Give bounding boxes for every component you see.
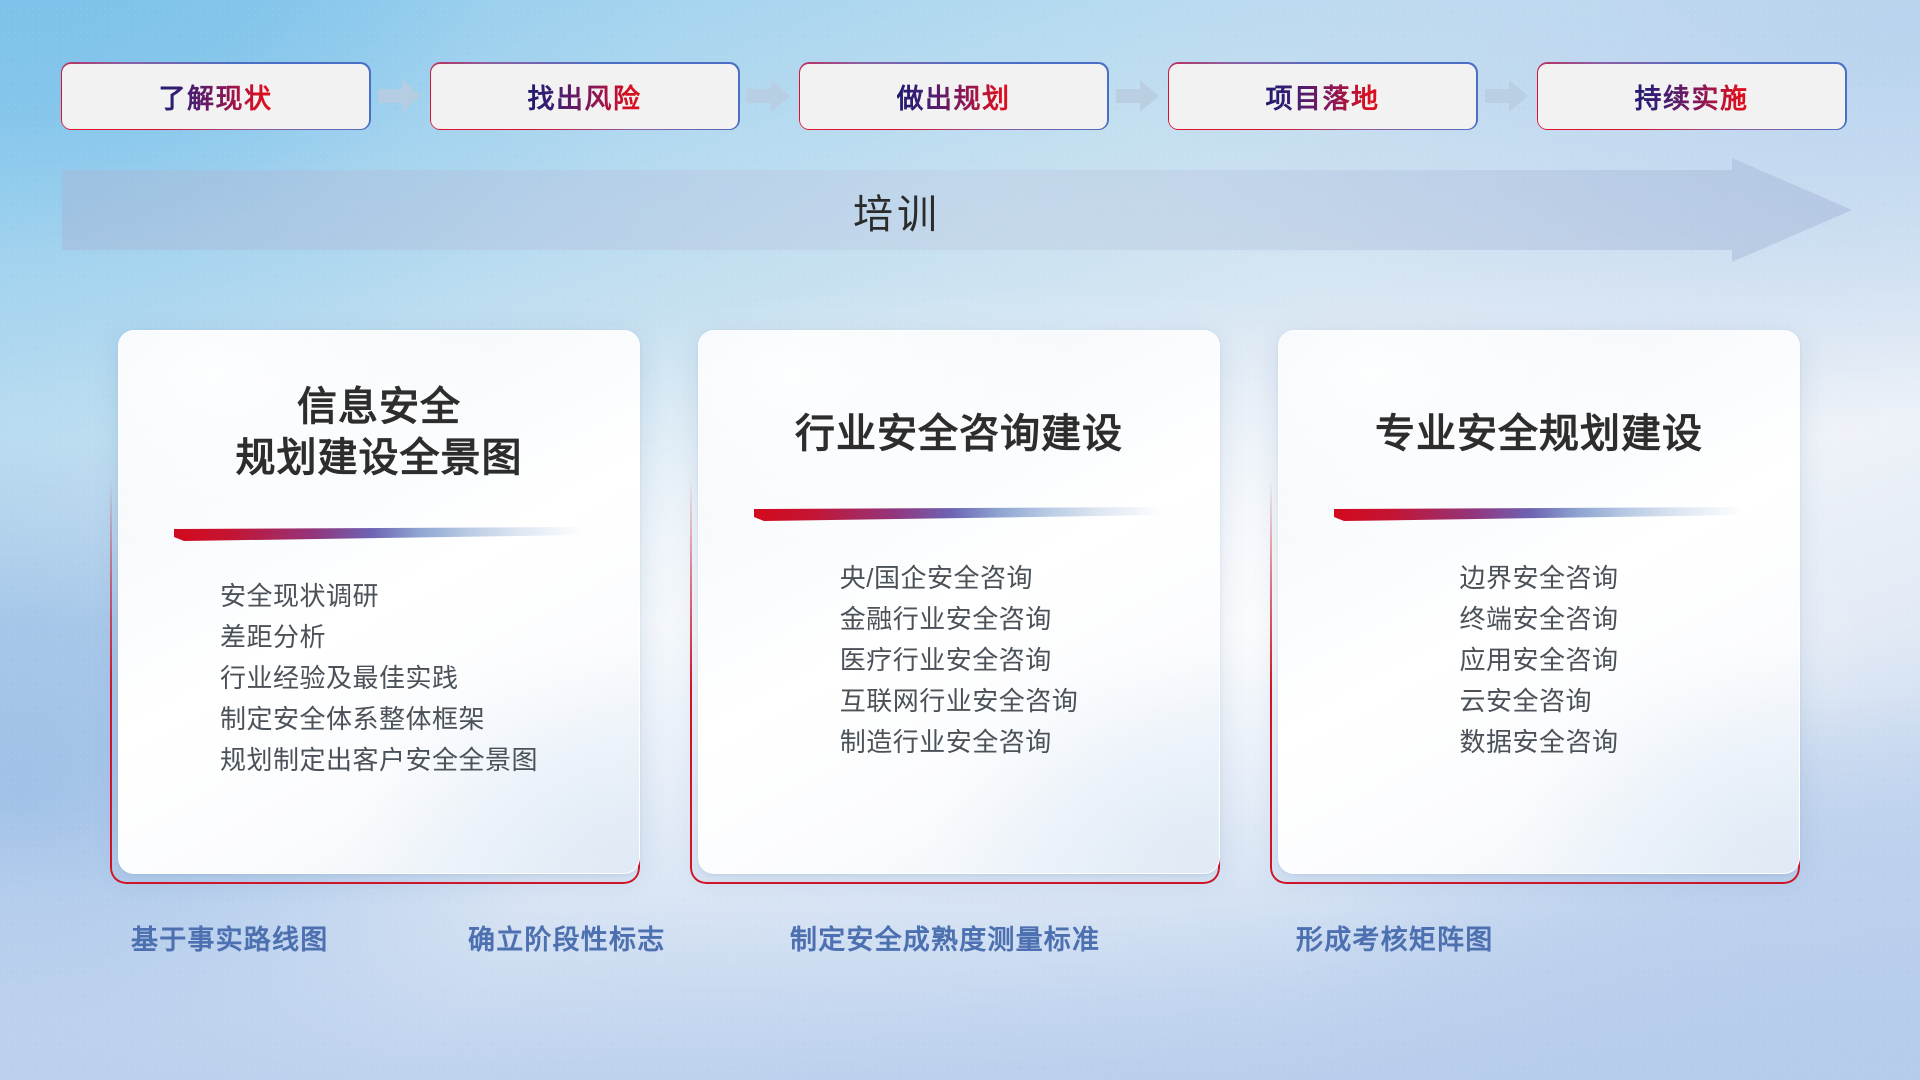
gradient-divider-icon bbox=[754, 507, 1164, 523]
step-pill-0[interactable]: 了解现状 bbox=[62, 64, 369, 129]
step-slot-3: 项目落地 bbox=[1169, 64, 1476, 129]
card-title-line: 信息安全 bbox=[236, 382, 523, 433]
list-item: 差距分析 bbox=[220, 624, 538, 650]
step-slot-1: 找出风险 bbox=[431, 64, 738, 129]
list-item: 制定安全体系整体框架 bbox=[220, 706, 538, 732]
list-item: 数据安全咨询 bbox=[1459, 729, 1618, 755]
card-body-1: 行业安全咨询建设 央/国企安全咨询 金融行业安全咨询 医疗行业安全咨询 互联网行… bbox=[698, 330, 1220, 874]
step-slot-2: 做出规划 bbox=[800, 64, 1107, 129]
list-item: 制造行业安全咨询 bbox=[840, 729, 1079, 755]
step-pill-label-2: 做出规划 bbox=[897, 77, 1011, 116]
list-item: 规划制定出客户安全全景图 bbox=[220, 747, 538, 773]
arrow-right-icon bbox=[1107, 79, 1169, 113]
process-steps: 了解现状 找出风险 做出规划 bbox=[0, 62, 1920, 130]
card-list-1: 央/国企安全咨询 金融行业安全咨询 医疗行业安全咨询 互联网行业安全咨询 制造行… bbox=[699, 565, 1219, 770]
arrow-right-icon bbox=[1476, 79, 1538, 113]
training-banner: 培训 bbox=[62, 158, 1852, 263]
step-slot-0: 了解现状 bbox=[62, 64, 369, 129]
step-pill-4[interactable]: 持续实施 bbox=[1538, 64, 1845, 129]
card-title-line: 规划建设全景图 bbox=[236, 433, 523, 484]
step-pill-label-0: 了解现状 bbox=[159, 77, 273, 116]
list-item: 医疗行业安全咨询 bbox=[840, 647, 1079, 673]
list-item: 安全现状调研 bbox=[220, 583, 538, 609]
caption-2: 制定安全成熟度测量标准 bbox=[790, 918, 1100, 957]
card-list-0: 安全现状调研 差距分析 行业经验及最佳实践 制定安全体系整体框架 规划制定出客户… bbox=[119, 583, 639, 788]
card-body-0: 信息安全 规划建设全景图 安全现状调研 差距分析 行业经验及最佳实践 制定安全体… bbox=[118, 330, 640, 874]
card-title-line: 行业安全咨询建设 bbox=[795, 409, 1123, 460]
caption-1: 确立阶段性标志 bbox=[468, 918, 665, 957]
step-pill-1[interactable]: 找出风险 bbox=[431, 64, 738, 129]
card-title-0: 信息安全 规划建设全景图 bbox=[119, 353, 639, 513]
gradient-divider-icon bbox=[1334, 507, 1744, 523]
list-item: 金融行业安全咨询 bbox=[840, 606, 1079, 632]
list-item: 边界安全咨询 bbox=[1459, 565, 1618, 591]
caption-0: 基于事实路线图 bbox=[131, 918, 328, 957]
arrow-right-icon bbox=[369, 79, 431, 113]
step-pill-label-4: 持续实施 bbox=[1635, 77, 1749, 116]
list-item: 行业经验及最佳实践 bbox=[220, 665, 538, 691]
card-body-2: 专业安全规划建设 边界安全咨询 终端安全咨询 应用安全咨询 云安全咨询 数据安全… bbox=[1278, 330, 1800, 874]
step-pill-label-1: 找出风险 bbox=[528, 77, 642, 116]
gradient-divider-icon bbox=[174, 527, 584, 543]
slide-canvas: 了解现状 找出风险 做出规划 bbox=[0, 0, 1920, 1080]
arrow-right-icon bbox=[738, 79, 800, 113]
caption-3: 形成考核矩阵图 bbox=[1296, 918, 1493, 957]
step-pill-3[interactable]: 项目落地 bbox=[1169, 64, 1476, 129]
card-title-1: 行业安全咨询建设 bbox=[699, 377, 1219, 493]
card-title-2: 专业安全规划建设 bbox=[1279, 377, 1799, 493]
list-item: 互联网行业安全咨询 bbox=[840, 688, 1079, 714]
step-pill-label-3: 项目落地 bbox=[1266, 77, 1380, 116]
step-pill-2[interactable]: 做出规划 bbox=[800, 64, 1107, 129]
list-item: 应用安全咨询 bbox=[1459, 647, 1618, 673]
step-slot-4: 持续实施 bbox=[1538, 64, 1845, 129]
list-item: 终端安全咨询 bbox=[1459, 606, 1618, 632]
capability-cards: 信息安全 规划建设全景图 安全现状调研 差距分析 行业经验及最佳实践 制定安全体… bbox=[0, 330, 1920, 890]
card-title-line: 专业安全规划建设 bbox=[1375, 409, 1703, 460]
card-list-2: 边界安全咨询 终端安全咨询 应用安全咨询 云安全咨询 数据安全咨询 bbox=[1279, 565, 1799, 770]
footer-captions: 基于事实路线图 确立阶段性标志 制定安全成熟度测量标准 形成考核矩阵图 bbox=[0, 918, 1920, 964]
list-item: 央/国企安全咨询 bbox=[840, 565, 1079, 591]
banner-label: 培训 bbox=[62, 158, 1732, 263]
list-item: 云安全咨询 bbox=[1459, 688, 1618, 714]
